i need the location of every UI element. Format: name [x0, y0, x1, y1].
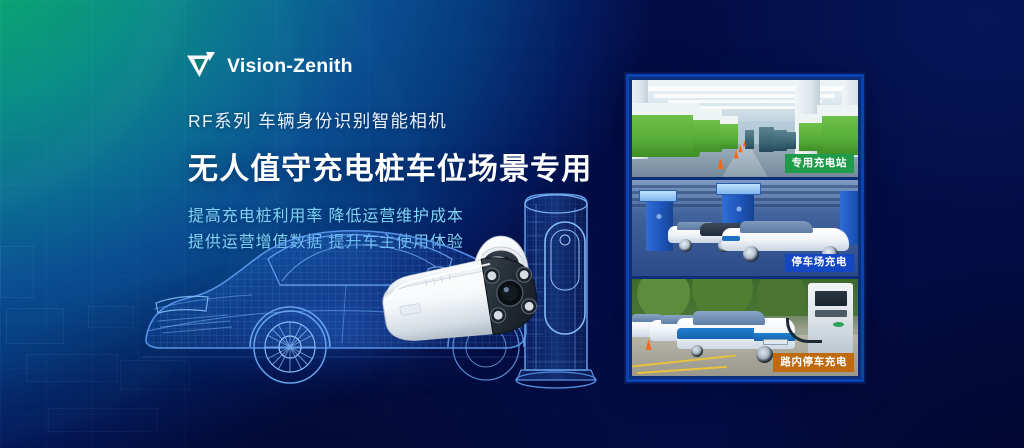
promo-banner: Vision-Zenith RF系列 车辆身份识别智能相机 无人值守充电桩车位场…	[0, 0, 1024, 448]
gallery-item-bus-station[interactable]: 专用充电站	[632, 80, 858, 177]
image-gallery: 专用充电站	[626, 74, 864, 382]
gallery-badge-bus-station: 专用充电站	[785, 154, 855, 173]
brand-name: Vision-Zenith	[227, 55, 353, 78]
gallery-item-parking-lot[interactable]: 停车场充电	[632, 180, 858, 277]
brand-logo: Vision-Zenith	[186, 52, 353, 80]
gallery-item-street-curb[interactable]: 路内停车充电	[632, 279, 858, 376]
eyebrow-text: RF系列 车辆身份识别智能相机	[188, 108, 618, 133]
v-mark-logo-icon	[186, 52, 216, 80]
gallery-badge-parking-lot: 停车场充电	[785, 254, 855, 273]
gallery-badge-street-curb: 路内停车充电	[773, 353, 854, 372]
bullet-camera-product	[378, 244, 556, 356]
